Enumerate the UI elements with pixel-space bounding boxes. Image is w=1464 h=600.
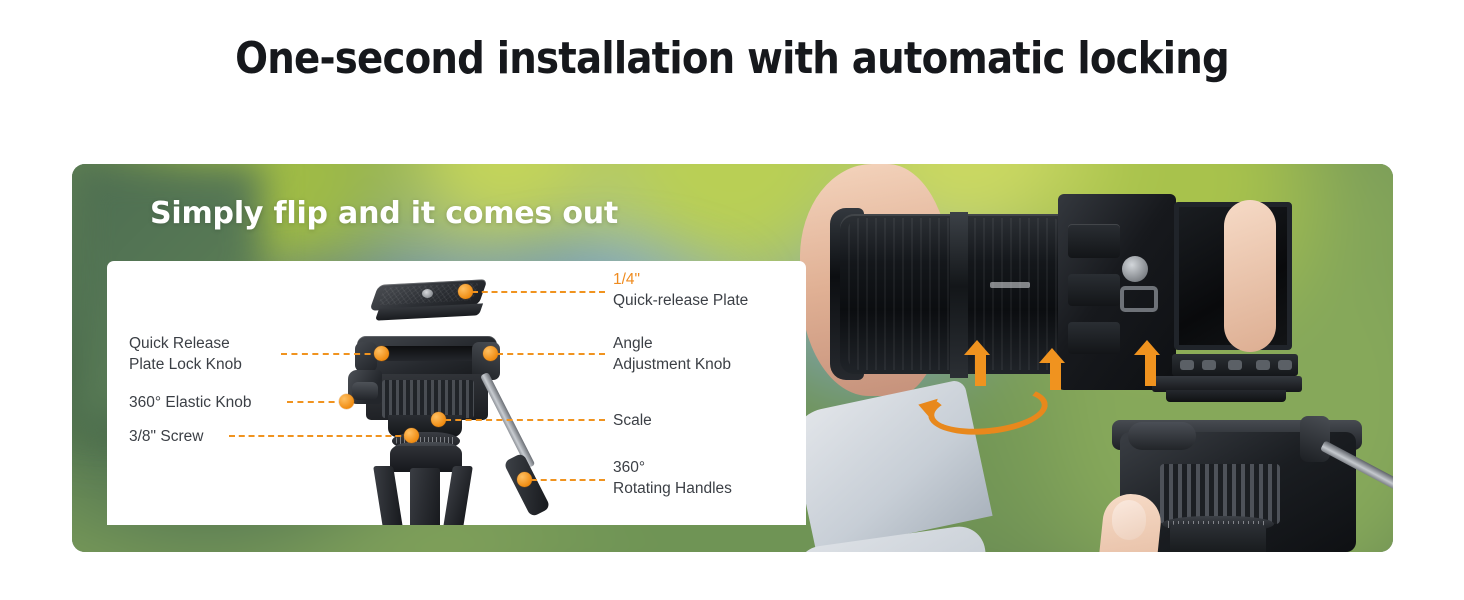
- label-angle-knob-line1: Angle: [613, 333, 731, 354]
- camera-button-3: [1228, 360, 1242, 370]
- illus-lock-knob: [355, 342, 377, 372]
- illus-plate-screw: [422, 289, 433, 298]
- camera-dial: [1122, 256, 1148, 282]
- label-scale: Scale: [613, 410, 652, 431]
- leader-screw: [229, 435, 411, 437]
- label-plate-lock-knob-line2: Plate Lock Knob: [129, 354, 242, 375]
- label-elastic-knob: 360° Elastic Knob: [129, 392, 252, 413]
- dot-rotating-handles: [517, 472, 532, 487]
- release-lever: [1128, 422, 1196, 450]
- illus-side-lever: [352, 382, 378, 400]
- illus-leg-left: [373, 466, 403, 525]
- illus-body-fins: [382, 380, 474, 418]
- illus-leg-right: [443, 466, 473, 525]
- label-quick-release-plate-accent: 1/4": [613, 269, 748, 290]
- lift-arrow-2-shaft: [1050, 360, 1061, 390]
- lift-arrow-3-head: [1134, 340, 1160, 355]
- tripod-head-illustration: [330, 270, 540, 525]
- product-photo: [800, 164, 1393, 552]
- camera-button-5: [1278, 360, 1292, 370]
- dot-plate-lock-knob: [374, 346, 389, 361]
- label-angle-knob-line2: Adjustment Knob: [613, 354, 731, 375]
- lift-arrow-3-shaft: [1145, 352, 1156, 386]
- strap-loop: [1120, 286, 1158, 312]
- dot-scale: [431, 412, 446, 427]
- diagram-panel: 1/4" Quick-release Plate Quick Release P…: [107, 261, 806, 525]
- dot-elastic-knob: [339, 394, 354, 409]
- illus-leg-center: [410, 468, 440, 525]
- dot-screw: [404, 428, 419, 443]
- label-angle-adjustment-knob: Angle Adjustment Knob: [613, 333, 731, 375]
- label-rotating-handles-line2: Rotating Handles: [613, 478, 732, 499]
- banner-subtitle: Simply flip and it comes out: [150, 196, 618, 231]
- camera-quick-release-plate: [1166, 390, 1286, 402]
- label-quick-release-plate: 1/4" Quick-release Plate: [613, 269, 748, 311]
- label-plate-lock-knob: Quick Release Plate Lock Knob: [129, 333, 242, 375]
- dot-quick-release-plate: [458, 284, 473, 299]
- camera-button-1: [1180, 360, 1194, 370]
- center-column: [1170, 524, 1266, 552]
- label-screw-line1: 3/8" Screw: [129, 426, 203, 447]
- label-rotating-handles: 360° Rotating Handles: [613, 457, 732, 499]
- camera-port-upper: [1068, 224, 1120, 258]
- angle-knob: [1300, 416, 1330, 462]
- label-quick-release-plate-line1: Quick-release Plate: [613, 290, 748, 311]
- tripod-head-fins: [1160, 464, 1280, 524]
- dot-angle-knob: [483, 346, 498, 361]
- leader-plate-lock-knob: [281, 353, 381, 355]
- lift-arrow-1-head: [964, 340, 990, 355]
- lens-af-mf-switch: [990, 282, 1030, 288]
- camera-button-4: [1256, 360, 1270, 370]
- camera-port-lower: [1068, 322, 1120, 354]
- illus-body-slot: [377, 346, 477, 361]
- camera-button-2: [1202, 360, 1216, 370]
- lift-arrow-2-head: [1039, 348, 1065, 363]
- thumbnail: [1112, 500, 1146, 540]
- lift-arrow-1-shaft: [975, 352, 986, 386]
- finger-upper: [1224, 200, 1276, 352]
- label-plate-lock-knob-line1: Quick Release: [129, 333, 242, 354]
- label-rotating-handles-line1: 360°: [613, 457, 732, 478]
- label-screw: 3/8" Screw: [129, 426, 203, 447]
- leader-scale: [445, 419, 605, 421]
- label-scale-line1: Scale: [613, 410, 652, 431]
- label-elastic-knob-line1: 360° Elastic Knob: [129, 392, 252, 413]
- camera-port-middle: [1068, 274, 1120, 306]
- leader-rotating-handles: [531, 479, 605, 481]
- feature-banner: Simply flip and it comes out: [72, 164, 1393, 552]
- page-title: One-second installation with automatic l…: [88, 33, 1376, 84]
- leader-quick-release-plate: [472, 291, 605, 293]
- leader-elastic-knob: [287, 401, 345, 403]
- leader-angle-knob: [497, 353, 605, 355]
